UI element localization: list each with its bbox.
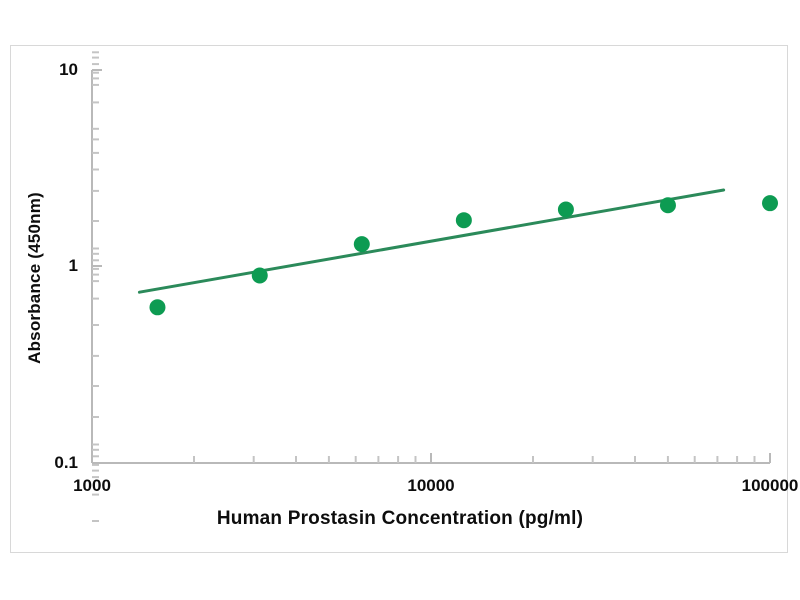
chart-figure: 10 1 0.1 1000 10000 100000 Human Prostas… — [0, 0, 800, 600]
y-axis-title: Absorbance (450nm) — [25, 78, 45, 478]
data-point — [354, 236, 370, 252]
data-point — [558, 202, 574, 218]
data-point — [660, 197, 676, 213]
x-tick-label-10000: 10000 — [371, 476, 491, 496]
data-point — [456, 212, 472, 228]
y-tick-label-10: 10 — [18, 60, 78, 80]
x-axis-title: Human Prostasin Concentration (pg/ml) — [0, 508, 800, 530]
x-tick-label-1000: 1000 — [32, 476, 152, 496]
data-point — [252, 267, 268, 283]
y-axis-minor-ticks — [92, 52, 99, 521]
trend-line — [139, 190, 723, 292]
x-tick-label-100000: 100000 — [710, 476, 800, 496]
x-axis-minor-ticks — [194, 456, 755, 463]
data-point — [149, 299, 165, 315]
data-point — [762, 195, 778, 211]
data-points — [149, 195, 778, 315]
